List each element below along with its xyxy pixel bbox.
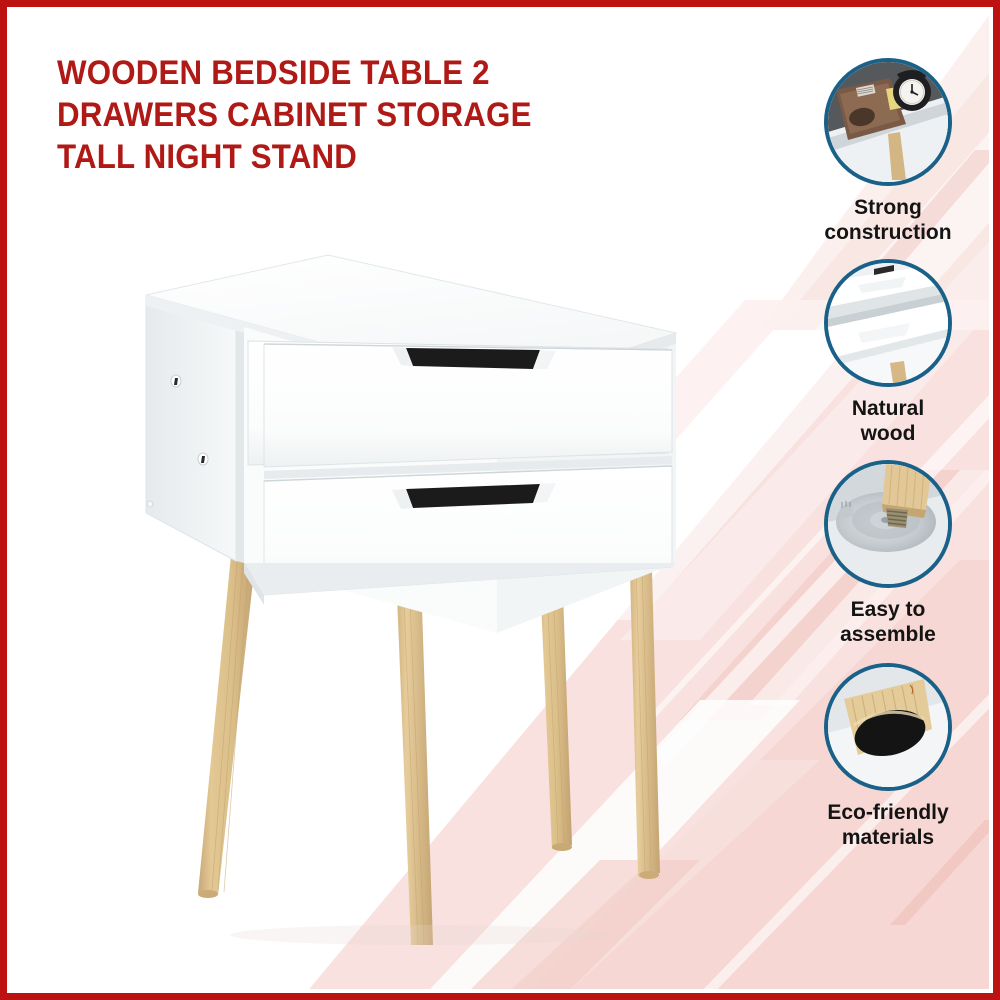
- strong-construction-image: [824, 58, 952, 186]
- feature-natural-wood: Natural wood: [790, 259, 986, 446]
- product-title: WOODEN BEDSIDE TABLE 2 DRAWERS CABINET S…: [57, 52, 677, 178]
- feature-natural-wood-label: Natural wood: [793, 396, 983, 446]
- product-title-line-3: TALL NIGHT STAND: [57, 136, 627, 178]
- drawers: [264, 344, 672, 595]
- feature-callout-list: Strong construction: [790, 58, 986, 850]
- feature-eco-friendly-materials: Eco-friendly materials: [790, 663, 986, 850]
- product-title-line-1: WOODEN BEDSIDE TABLE 2: [57, 52, 627, 94]
- feature-label-line-1: Natural: [793, 396, 983, 421]
- feature-strong-construction-label: Strong construction: [793, 195, 983, 245]
- feature-label-line-1: Easy to: [793, 597, 983, 622]
- product-listing-page: WOODEN BEDSIDE TABLE 2 DRAWERS CABINET S…: [0, 0, 1000, 1000]
- feature-label-line-2: materials: [793, 825, 983, 850]
- feature-easy-to-assemble-label: Easy to assemble: [793, 597, 983, 647]
- product-title-line-2: DRAWERS CABINET STORAGE: [57, 94, 627, 136]
- feature-label-line-2: construction: [793, 220, 983, 245]
- product-image: [120, 245, 720, 945]
- feature-label-line-2: wood: [793, 421, 983, 446]
- eco-friendly-materials-image: [824, 663, 952, 791]
- feature-label-line-1: Strong: [793, 195, 983, 220]
- feature-strong-construction: Strong construction: [790, 58, 986, 245]
- leg-front-left: [198, 545, 257, 898]
- natural-wood-image: [824, 259, 952, 387]
- feature-label-line-2: assemble: [793, 622, 983, 647]
- feature-label-line-1: Eco-friendly: [793, 800, 983, 825]
- feature-eco-friendly-materials-label: Eco-friendly materials: [793, 800, 983, 850]
- easy-to-assemble-image: [824, 460, 952, 588]
- feature-easy-to-assemble: Easy to assemble: [790, 460, 986, 647]
